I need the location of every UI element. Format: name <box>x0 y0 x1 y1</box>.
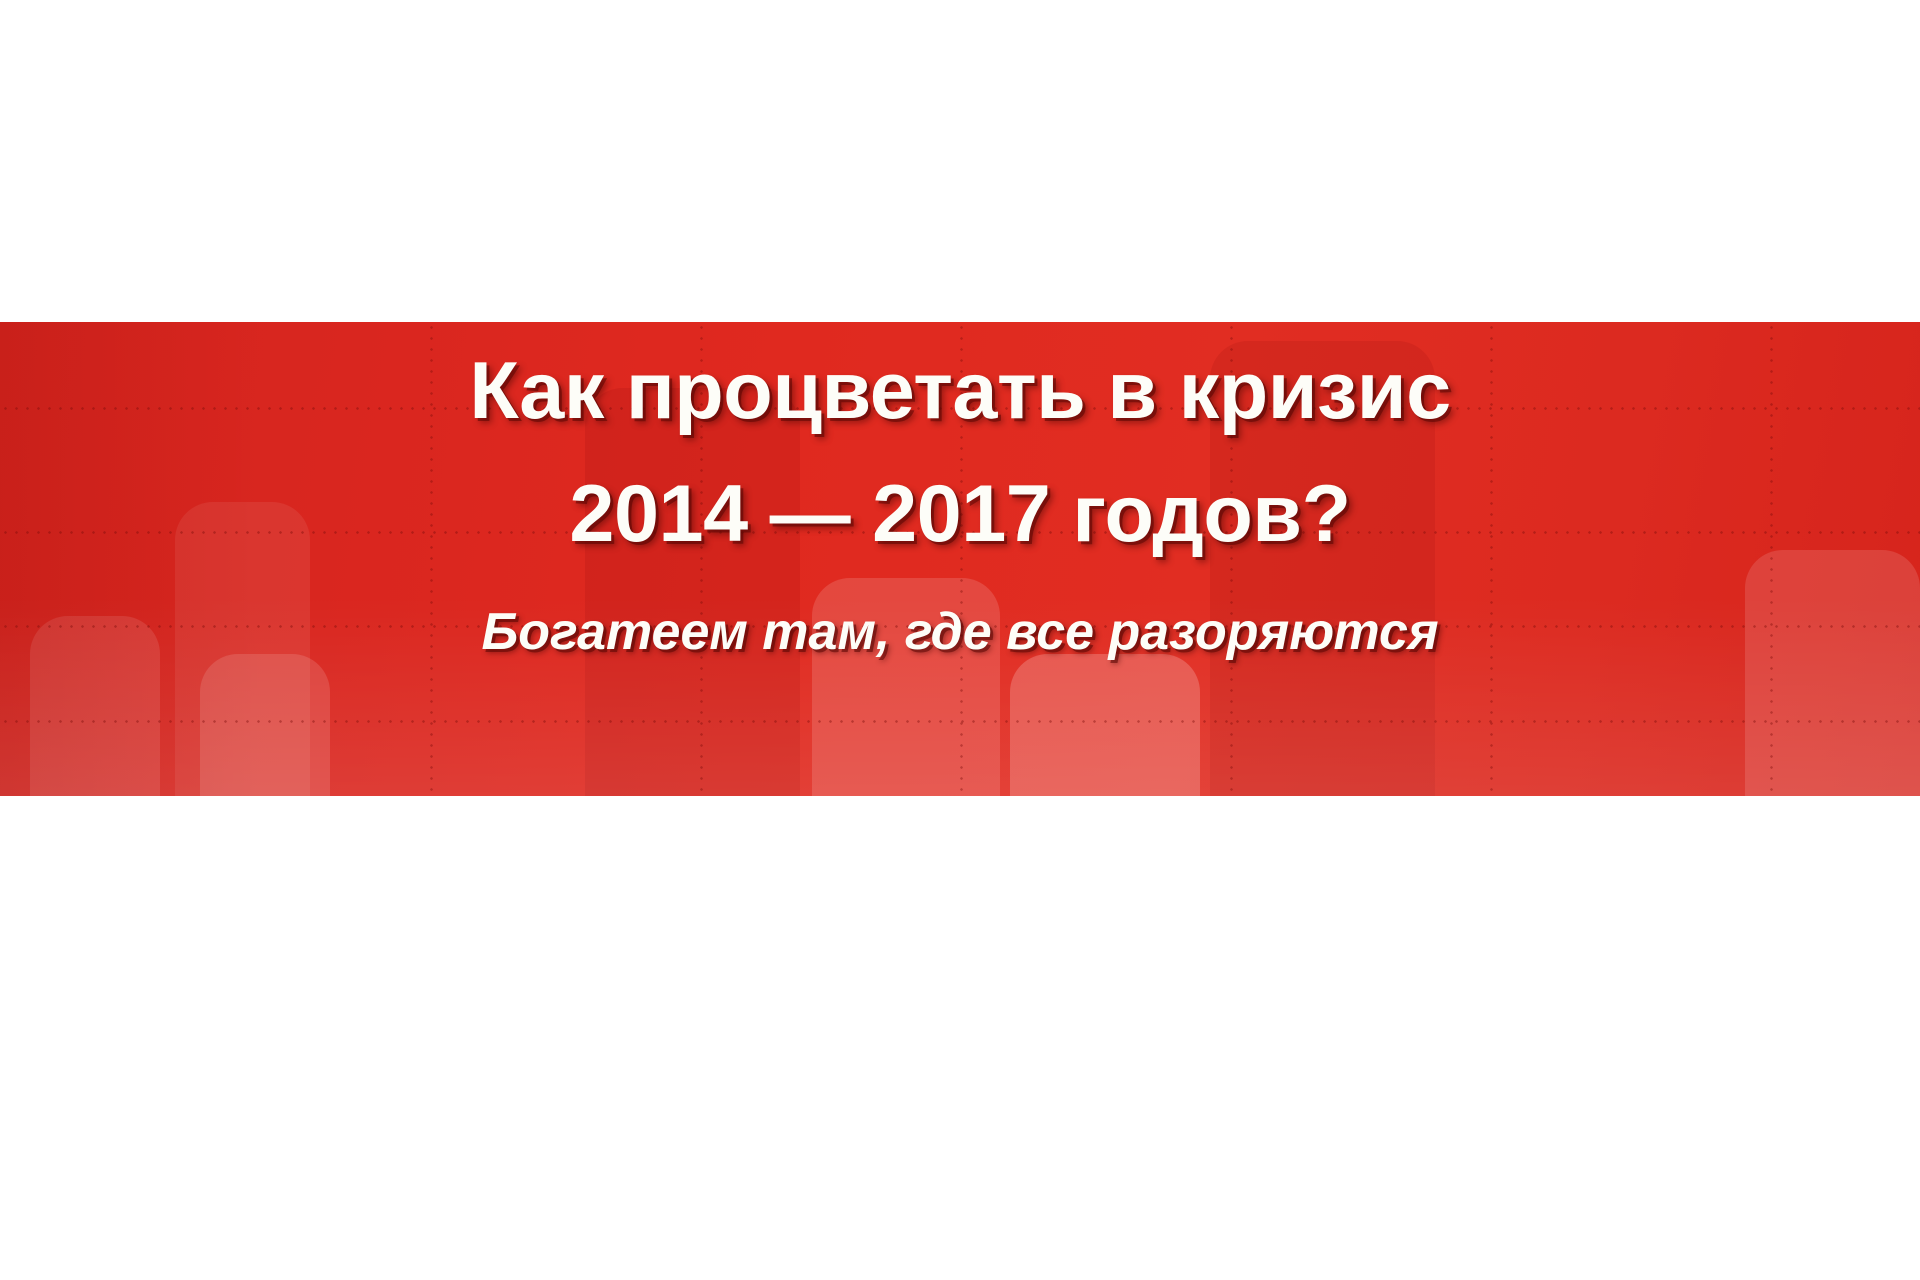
banner-subheadline: Богатеем там, где все разоряются <box>481 605 1438 660</box>
banner-headline-line1: Как процветать в кризис <box>469 350 1450 433</box>
banner-text-block: Как процветать в кризис 2014 — 2017 годо… <box>0 322 1920 796</box>
banner-headline-line2: 2014 — 2017 годов? <box>569 473 1350 556</box>
crisis-prosperity-banner[interactable]: Как процветать в кризис 2014 — 2017 годо… <box>0 322 1920 796</box>
page-root: Как процветать в кризис 2014 — 2017 годо… <box>0 0 1920 1280</box>
